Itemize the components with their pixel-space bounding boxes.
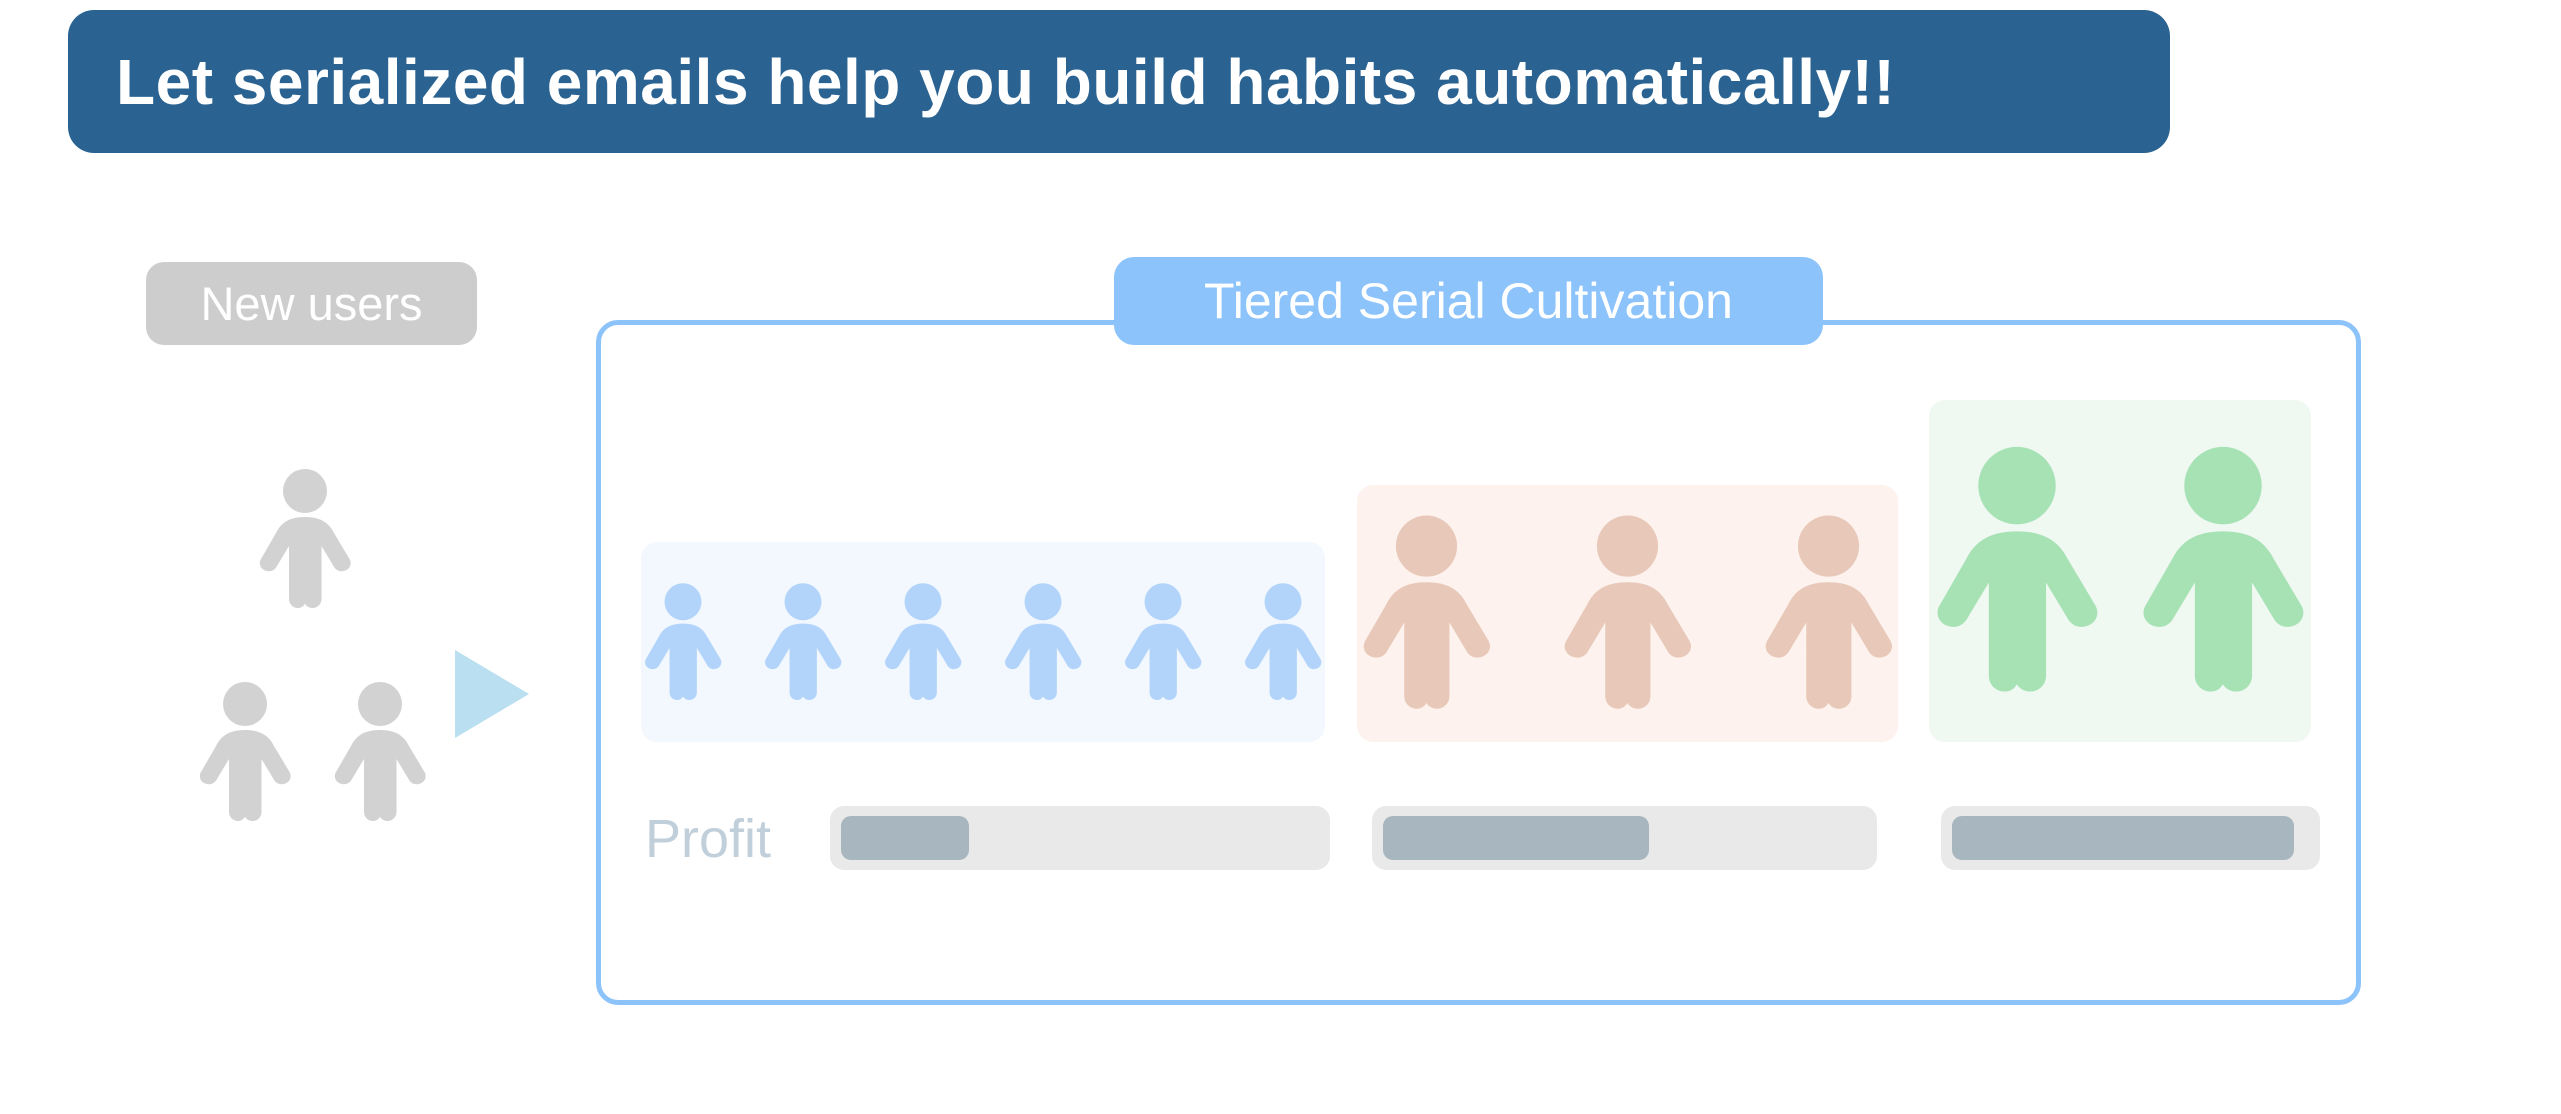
person-icon bbox=[1001, 570, 1085, 715]
person-icon bbox=[2135, 426, 2311, 716]
profit-bar-tier-1 bbox=[830, 806, 1330, 870]
profit-bar-tier-2 bbox=[1372, 806, 1877, 870]
person-icon bbox=[761, 570, 845, 715]
new-users-badge: New users bbox=[146, 262, 477, 345]
tier-figure-row bbox=[1929, 400, 2311, 742]
profit-bar-fill bbox=[841, 816, 969, 860]
tier-group-peach bbox=[1357, 485, 1898, 742]
person-icon bbox=[1759, 512, 1898, 715]
person-icon-new-user bbox=[195, 680, 295, 825]
person-icon bbox=[881, 570, 965, 715]
person-icon bbox=[1241, 570, 1325, 715]
person-icon bbox=[1929, 426, 2105, 716]
new-users-label: New users bbox=[200, 276, 422, 331]
tier-group-green bbox=[1929, 400, 2311, 742]
person-icon-new-user bbox=[330, 680, 430, 825]
tier-figure-row bbox=[1357, 485, 1898, 742]
title-banner: Let serialized emails help you build hab… bbox=[68, 10, 2170, 153]
profit-label: Profit bbox=[645, 808, 771, 870]
page-title: Let serialized emails help you build hab… bbox=[116, 45, 1895, 119]
person-icon bbox=[641, 570, 725, 715]
tier-figure-row bbox=[641, 542, 1325, 742]
person-icon bbox=[1357, 512, 1496, 715]
person-icon-new-user bbox=[255, 467, 355, 612]
panel-title-label: Tiered Serial Cultivation bbox=[1204, 272, 1733, 330]
tier-group-blue bbox=[641, 542, 1325, 742]
person-icon bbox=[1558, 512, 1697, 715]
profit-bar-fill bbox=[1952, 816, 2294, 860]
person-icon bbox=[1121, 570, 1205, 715]
profit-bar-tier-3 bbox=[1941, 806, 2320, 870]
profit-bar-fill bbox=[1383, 816, 1649, 860]
panel-title-badge: Tiered Serial Cultivation bbox=[1114, 257, 1823, 345]
play-triangle-right-icon bbox=[455, 650, 529, 738]
